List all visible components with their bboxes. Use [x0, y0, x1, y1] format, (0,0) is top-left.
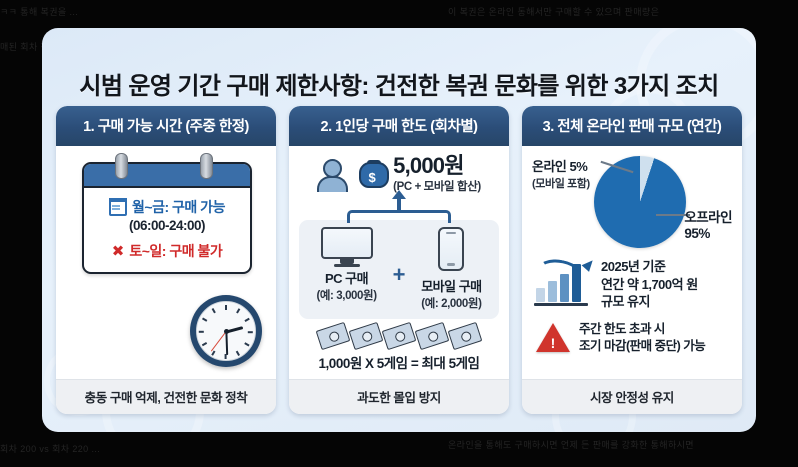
panel1-footer: 충동 구매 억제, 건전한 문화 정착	[56, 379, 276, 414]
clock-tick	[202, 342, 207, 346]
warning-text-2: 조기 마감(판매 중단) 가능	[579, 338, 705, 355]
clock-tick	[202, 318, 207, 322]
calendar-illustration: 월~금: 구매 가능 (06:00-24:00) ✖ 토~일: 구매 불가	[82, 162, 252, 274]
growth-bar	[536, 288, 545, 302]
tickets-caption: 1,000원 X 5게임 = 최대 5게임	[299, 352, 499, 372]
online-note: (모바일 포함)	[532, 175, 590, 191]
allowed-hours: (06:00-24:00)	[91, 218, 243, 233]
offline-value: 95%	[684, 226, 732, 241]
pie-chart-circle	[594, 156, 686, 248]
person-body	[317, 176, 348, 192]
background-text-line: ㅋㅋ 통해 복권을 ...	[0, 5, 78, 18]
background-text-line: 온라인을 통해도 구매하시면 언제 든 판매를 강화한 통해하시면	[448, 438, 694, 451]
warning-triangle-icon: !	[536, 323, 570, 353]
monitor-screen	[321, 227, 373, 259]
smartphone-icon	[438, 227, 464, 271]
sum-arrow-icon	[299, 196, 499, 218]
panel2-header: 2. 1인당 구매 한도 (회차별)	[289, 106, 509, 146]
pie-label-online: 온라인 5% (모바일 포함)	[532, 156, 590, 191]
device-pc: PC 구매 (예: 3,000원)	[307, 227, 387, 303]
clock-minute-hand	[225, 332, 228, 355]
growth-text-block: 2025년 기준 연간 약 1,700억 원 규모 유지	[601, 258, 698, 311]
device-name: PC 구매	[307, 268, 387, 287]
ticket-icon	[448, 322, 483, 350]
device-mobile: 모바일 구매 (예: 2,000원)	[411, 227, 491, 311]
dollar-sign-icon: $	[359, 171, 385, 184]
clock-icon	[190, 295, 262, 367]
pie-chart: 온라인 5% (모바일 포함) 오프라인 95%	[530, 152, 734, 256]
plus-icon: +	[393, 250, 406, 288]
device-example: (예: 3,000원)	[307, 287, 387, 303]
clock-tick	[236, 308, 240, 313]
ticket-row	[299, 326, 499, 346]
offline-label: 오프라인	[684, 206, 732, 226]
panel3-header: 3. 전체 온라인 판매 규모 (연간)	[522, 106, 742, 146]
exclamation-icon: !	[536, 336, 570, 350]
clock-tick	[248, 331, 253, 333]
growth-text-2: 연간 약 1,700억 원	[601, 276, 698, 294]
panel3-body: 온라인 5% (모바일 포함) 오프라인 95%	[522, 146, 742, 379]
panel-sales-scale: 3. 전체 온라인 판매 규모 (연간) 온라인 5% (모바일 포함)	[522, 106, 742, 414]
pie-label-offline: 오프라인 95%	[684, 206, 732, 241]
infographic-card: 시범 운영 기간 구매 제한사항: 건전한 복권 문화를 위한 3가지 조치 1…	[42, 28, 756, 432]
warning-text-1: 주간 한도 초과 시	[579, 321, 705, 338]
growth-text-3: 규모 유지	[601, 293, 698, 311]
calendar-ring-icon	[200, 153, 213, 179]
device-breakdown-box: PC 구매 (예: 3,000원) + 모바일 구매 (예: 2,000원)	[299, 220, 499, 319]
monitor-base	[334, 264, 360, 267]
growth-text-1: 2025년 기준	[601, 258, 698, 276]
ticket-icon	[316, 322, 351, 350]
ticket-icon	[415, 322, 450, 350]
page-title: 시범 운영 기간 구매 제한사항: 건전한 복권 문화를 위한 3가지 조치	[42, 66, 756, 101]
total-amount: 5,000원	[393, 154, 481, 177]
ticket-icon	[382, 322, 417, 350]
join-bracket	[347, 210, 451, 223]
total-note: (PC + 모바일 합산)	[393, 178, 481, 194]
panel1-header: 1. 구매 가능 시간 (주중 한정)	[56, 106, 276, 146]
ticket-icon	[349, 322, 384, 350]
panel2-content: $ 5,000원 (PC + 모바일 합산)	[289, 146, 509, 379]
allowed-label: 월~금: 구매 가능	[132, 197, 225, 217]
spacer	[91, 233, 243, 241]
x-mark-icon: ✖	[112, 244, 125, 259]
person-icon	[317, 159, 351, 189]
money-bag-icon: $	[359, 160, 385, 188]
calendar-icon	[109, 198, 127, 216]
blocked-label: 토~일: 구매 불가	[129, 241, 222, 261]
panel2-footer: 과도한 몰입 방지	[289, 379, 509, 414]
clock-tick	[199, 331, 204, 333]
panel2-body: $ 5,000원 (PC + 모바일 합산)	[289, 146, 509, 379]
panel1-body: 월~금: 구매 가능 (06:00-24:00) ✖ 토~일: 구매 불가	[56, 146, 276, 379]
warning-row: ! 주간 한도 초과 시 조기 마감(판매 중단) 가능	[530, 321, 734, 355]
arrow-tip	[392, 190, 406, 199]
online-label: 온라인 5%	[532, 156, 590, 175]
clock-tick	[225, 305, 227, 310]
background-text-line: 이 복권은 온라인 동해서만 구매할 수 있으며 판매량은	[448, 5, 659, 18]
device-name: 모바일 구매	[411, 276, 491, 295]
growth-chart-icon	[534, 262, 592, 306]
blocked-row: ✖ 토~일: 구매 불가	[91, 241, 243, 261]
panel3-content: 온라인 5% (모바일 포함) 오프라인 95%	[522, 146, 742, 379]
growth-axis	[534, 303, 588, 306]
calendar-header-bar	[84, 164, 250, 188]
clock-center-pin	[224, 329, 229, 334]
clock-tick	[236, 351, 240, 356]
monitor-icon	[321, 227, 373, 263]
limit-summary-row: $ 5,000원 (PC + 모바일 합산)	[299, 154, 499, 194]
panel-purchase-hours: 1. 구매 가능 시간 (주중 한정) 월~금: 구매 가능	[56, 106, 276, 414]
clock-face	[196, 301, 256, 361]
panel-purchase-limit: 2. 1인당 구매 한도 (회차별) $	[289, 106, 509, 414]
background-text-line: 회차 200 vs 회차 220 ...	[0, 442, 100, 455]
clock-second-hand	[211, 332, 226, 352]
warning-text-block: 주간 한도 초과 시 조기 마감(판매 중단) 가능	[579, 321, 705, 355]
screenshot-stage: ㅋㅋ 통해 복권을 ... 매된 회차 판매 ... 이 복권은 온라인 동해서…	[0, 0, 798, 467]
clock-tick	[245, 318, 250, 322]
device-example: (예: 2,000원)	[411, 295, 491, 311]
clock-tick	[212, 308, 216, 313]
limit-amount-block: 5,000원 (PC + 모바일 합산)	[393, 154, 481, 194]
calendar-content: 월~금: 구매 가능 (06:00-24:00) ✖ 토~일: 구매 불가	[84, 188, 250, 272]
calendar-ring-icon	[115, 153, 128, 179]
allowed-row: 월~금: 구매 가능	[91, 197, 243, 217]
growth-row: 2025년 기준 연간 약 1,700억 원 규모 유지	[530, 258, 734, 311]
panel3-footer: 시장 안정성 유지	[522, 379, 742, 414]
clock-tick	[212, 351, 216, 356]
calendar-card: 월~금: 구매 가능 (06:00-24:00) ✖ 토~일: 구매 불가	[82, 162, 252, 274]
panel-container: 1. 구매 가능 시간 (주중 한정) 월~금: 구매 가능	[56, 106, 742, 414]
growth-arrow-head	[582, 257, 597, 272]
clock-tick	[245, 342, 250, 346]
